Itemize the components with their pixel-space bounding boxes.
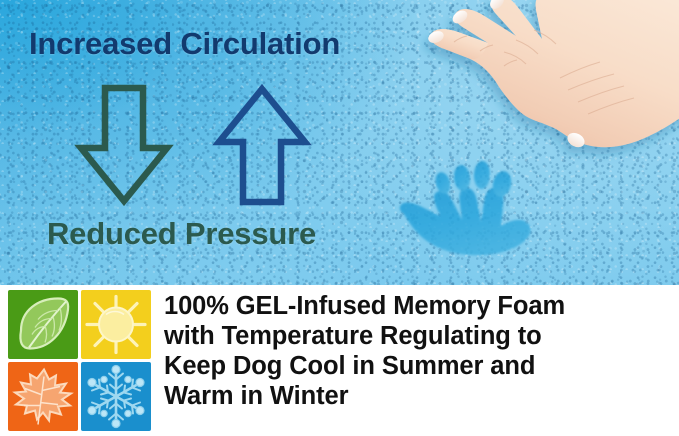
headline-increased-circulation: Increased Circulation	[29, 26, 340, 62]
promo-copy-line-1: 100% GEL-Infused Memory Foam	[164, 291, 669, 321]
gel-foam-photo: Increased Circulation Reduced Pressure	[0, 0, 679, 285]
snowflake-icon	[81, 362, 151, 431]
promo-copy-line-3: Keep Dog Cool in Summer and	[164, 351, 669, 381]
up-arrow-icon	[212, 82, 312, 208]
maple-leaf-icon	[8, 362, 78, 431]
season-tile-spring	[8, 290, 78, 359]
down-arrow-icon	[74, 82, 174, 208]
promo-copy-line-4: Warm in Winter	[164, 381, 669, 411]
promo-copy: 100% GEL-Infused Memory Foam with Temper…	[164, 291, 669, 411]
season-tile-winter	[81, 362, 151, 431]
season-tile-summer	[81, 290, 151, 359]
season-icon-grid	[8, 290, 151, 431]
promo-copy-line-2: with Temperature Regulating to	[164, 321, 669, 351]
product-feature-ad: Increased Circulation Reduced Pressure	[0, 0, 679, 436]
leaf-icon	[8, 290, 78, 359]
headline-reduced-pressure: Reduced Pressure	[47, 216, 316, 252]
season-tile-autumn	[8, 362, 78, 431]
hand-on-foam	[392, 0, 679, 202]
feature-bar: 100% GEL-Infused Memory Foam with Temper…	[0, 285, 679, 436]
sun-icon	[81, 290, 151, 359]
